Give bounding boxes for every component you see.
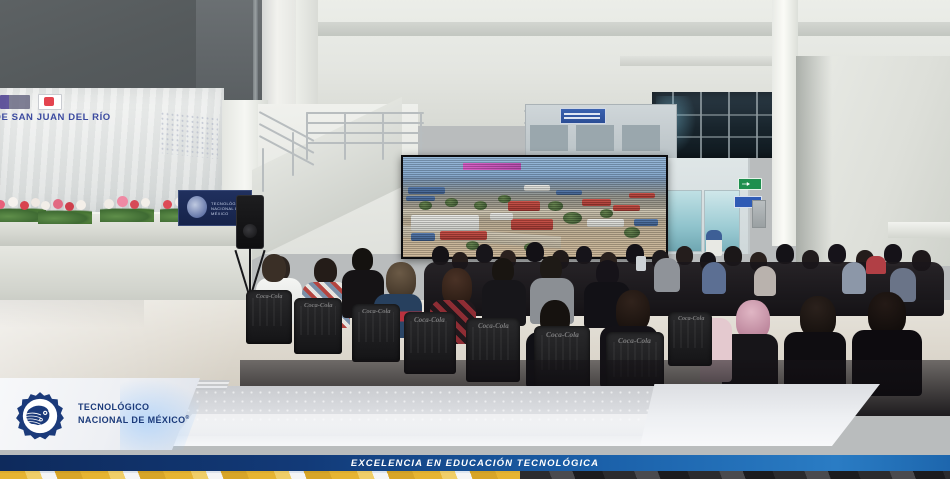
podium-logo-icon xyxy=(187,196,207,218)
tecnm-wordmark: TECNOLÓGICO NACIONAL DE MÉXICO® xyxy=(78,402,190,426)
slogan-text: EXCELENCIA EN EDUCACIÓN TECNOLÓGICA xyxy=(0,458,950,469)
office-signage xyxy=(560,108,606,124)
audience-member xyxy=(776,244,794,264)
person-near-entrance xyxy=(706,230,722,256)
banner-text: DE SAN JUAN DEL RÍO xyxy=(0,112,111,123)
audience-member-shirt xyxy=(702,262,726,294)
structural-column-right xyxy=(772,0,798,246)
screen-caption-bar xyxy=(463,163,521,170)
speaker-tripod-stand xyxy=(236,246,264,298)
audience-member-shirt xyxy=(890,268,916,302)
audience-member xyxy=(492,258,514,283)
tecnm-wordmark-line1: TECNOLÓGICO xyxy=(78,402,190,413)
screenshot-root: DE SAN JUAN DEL RÍO xyxy=(0,0,950,479)
registered-mark: ® xyxy=(186,415,190,421)
led-screen-content xyxy=(403,157,666,257)
audience-member-curly-hair xyxy=(386,262,416,298)
stage-platform-front xyxy=(0,246,252,308)
brandbar-mid-band xyxy=(176,414,712,436)
stair-post-1 xyxy=(262,148,264,192)
audience-member-shirt xyxy=(754,266,776,296)
railing-rail-3 xyxy=(306,132,424,134)
screen-sky xyxy=(403,157,666,177)
audience-member xyxy=(596,260,619,286)
glass-door-left xyxy=(666,190,702,252)
railing-post-3 xyxy=(382,112,384,160)
tecnm-gear-eagle-logo xyxy=(12,390,68,442)
stair-post-2 xyxy=(292,132,294,176)
audience-member xyxy=(314,258,337,284)
led-screen xyxy=(401,155,668,259)
audience-member xyxy=(540,256,562,281)
wall-utility-panel xyxy=(752,200,766,228)
pa-speaker xyxy=(236,195,264,249)
banner-dot-pattern xyxy=(160,111,218,159)
railing-top-rail xyxy=(306,112,424,114)
right-wall-shadow xyxy=(796,56,832,266)
brandbar-right-panel xyxy=(640,384,880,446)
floral-arrangement xyxy=(38,198,92,224)
railing-post-4 xyxy=(420,112,422,156)
ceiling-beam xyxy=(300,22,950,36)
exit-icon xyxy=(738,178,762,190)
audience-member-shirt xyxy=(842,262,866,294)
wall-mullion xyxy=(253,0,258,106)
railing-rail-4 xyxy=(306,142,424,144)
right-wall-ledge xyxy=(888,222,950,238)
bottom-stripe-shadow xyxy=(520,471,950,479)
audience-member xyxy=(268,256,290,281)
audience-member-front xyxy=(262,254,286,282)
banner-logo-secondary-icon xyxy=(38,94,62,110)
audience-member xyxy=(750,252,767,271)
floral-arrangement xyxy=(100,196,154,222)
railing-post-2 xyxy=(344,112,346,160)
railing-rail-2 xyxy=(306,122,424,124)
banner-logo-primary-icon xyxy=(0,95,30,109)
audience-member-shirt xyxy=(654,258,680,292)
banner-logos xyxy=(0,94,62,110)
tecnm-wordmark-line2: NACIONAL DE MÉXICO® xyxy=(78,413,190,426)
